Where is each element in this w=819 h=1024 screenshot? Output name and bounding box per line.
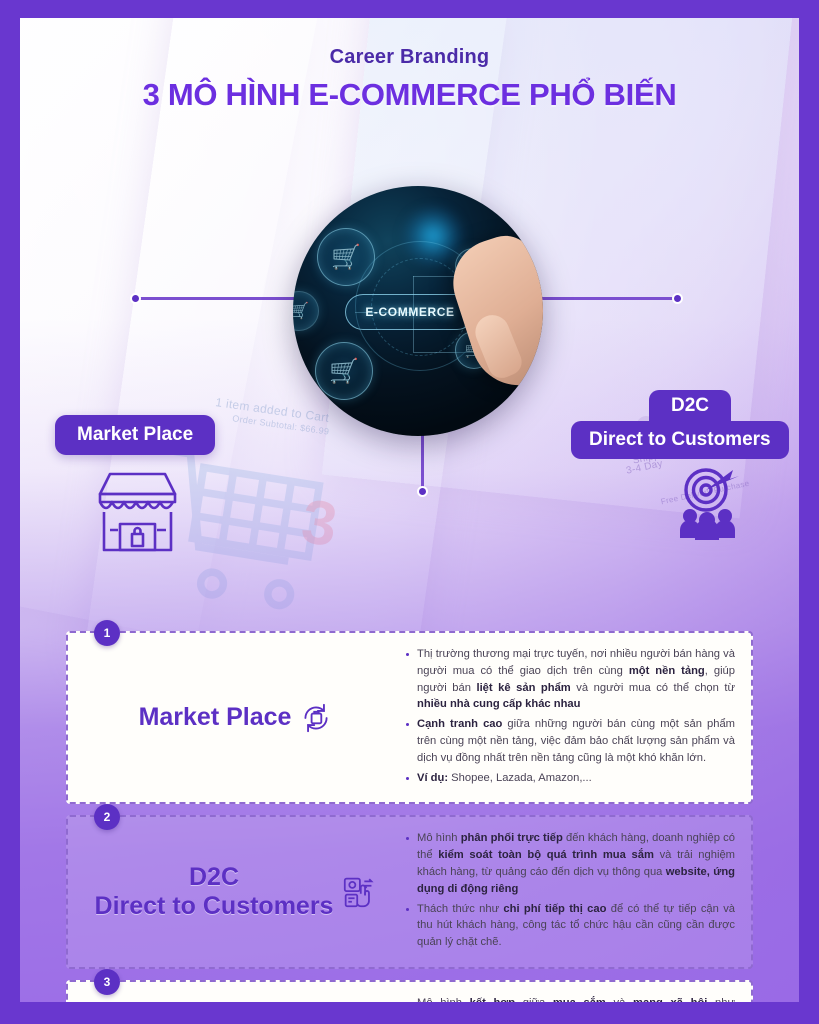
page-title: 3 MÔ HÌNH E-COMMERCE PHỔ BIẾN bbox=[20, 77, 799, 113]
cart-node-icon: 🛒 bbox=[315, 342, 373, 400]
label-market-place[interactable]: Market Place bbox=[55, 415, 215, 455]
card-number-badge: 3 bbox=[94, 969, 120, 995]
card-number-badge: 1 bbox=[94, 620, 120, 646]
bullet-item: Thị trường thương mại trực tuyến, nơi nh… bbox=[404, 646, 735, 713]
card-title-line2: Direct to Customers bbox=[95, 892, 334, 920]
center-circle-photo: 🛒 🛒 🛒 🛒 🛒 🛒 E-COMMERCE bbox=[293, 186, 543, 436]
header: Career Branding 3 MÔ HÌNH E-COMMERCE PHỔ… bbox=[20, 46, 799, 113]
connector-line-market bbox=[135, 297, 310, 300]
label-d2c-bottom[interactable]: Direct to Customers bbox=[571, 421, 789, 459]
bullet-item: Ví dụ: Shopee, Lazada, Amazon,... bbox=[404, 770, 735, 787]
card-header: D2C Direct to Customers bbox=[68, 817, 398, 967]
storefront-icon bbox=[90, 468, 185, 558]
card-title: Market Place bbox=[139, 703, 292, 732]
bullet-list: Thị trường thương mại trực tuyến, nơi nh… bbox=[404, 646, 735, 786]
card-title: D2C Direct to Customers bbox=[95, 863, 334, 921]
card-market-place[interactable]: 1 Market Place Th bbox=[66, 631, 753, 804]
card-body: Thị trường thương mại trực tuyến, nơi nh… bbox=[398, 633, 751, 802]
card-d2c[interactable]: 2 D2C Direct to Customers bbox=[66, 815, 753, 969]
card-header: Market Place bbox=[68, 633, 398, 802]
connector-dot-market bbox=[130, 293, 141, 304]
cart-node-icon: 🛒 bbox=[317, 228, 375, 286]
card-body: Mô hình phân phối trực tiếp đến khách hà… bbox=[398, 817, 751, 967]
diagram: 🛒 🛒 🛒 🛒 🛒 🛒 E-COMMERCE Market Place bbox=[20, 168, 799, 618]
card-body: Mô hình kết hợp giữa mua sắm và mạng xã … bbox=[398, 982, 751, 1002]
bullet-item: Cạnh tranh cao giữa những người bán cùng… bbox=[404, 716, 735, 766]
target-audience-icon bbox=[675, 466, 745, 540]
bullet-list: Mô hình phân phối trực tiếp đến khách hà… bbox=[404, 830, 735, 951]
label-d2c-top[interactable]: D2C bbox=[649, 390, 731, 421]
connector-dot-social bbox=[417, 486, 428, 497]
cart-node-icon: 🛒 bbox=[293, 291, 319, 331]
card-title-line1: D2C bbox=[189, 863, 239, 891]
kicker-text: Career Branding bbox=[20, 46, 799, 69]
hand-tap-payment-icon bbox=[343, 876, 375, 908]
box-refresh-icon bbox=[301, 703, 331, 733]
bullet-item: Mô hình phân phối trực tiếp đến khách hà… bbox=[404, 830, 735, 897]
connector-line-d2c bbox=[528, 297, 678, 300]
bullet-list: Mô hình kết hợp giữa mua sắm và mạng xã … bbox=[404, 995, 735, 1002]
outer-frame: 3 1 item added to Cart Order Subtotal: $… bbox=[0, 0, 819, 1024]
cards-list: 1 Market Place Th bbox=[66, 631, 753, 1002]
infographic-canvas: 3 1 item added to Cart Order Subtotal: $… bbox=[20, 18, 799, 1002]
bullet-item: Mô hình kết hợp giữa mua sắm và mạng xã … bbox=[404, 995, 735, 1002]
bullet-item: Thách thức như chi phí tiếp thị cao để c… bbox=[404, 901, 735, 951]
card-social-commerce[interactable]: 3 Social Commerce bbox=[66, 980, 753, 1002]
connector-dot-d2c bbox=[672, 293, 683, 304]
connector-line-social bbox=[421, 430, 424, 492]
